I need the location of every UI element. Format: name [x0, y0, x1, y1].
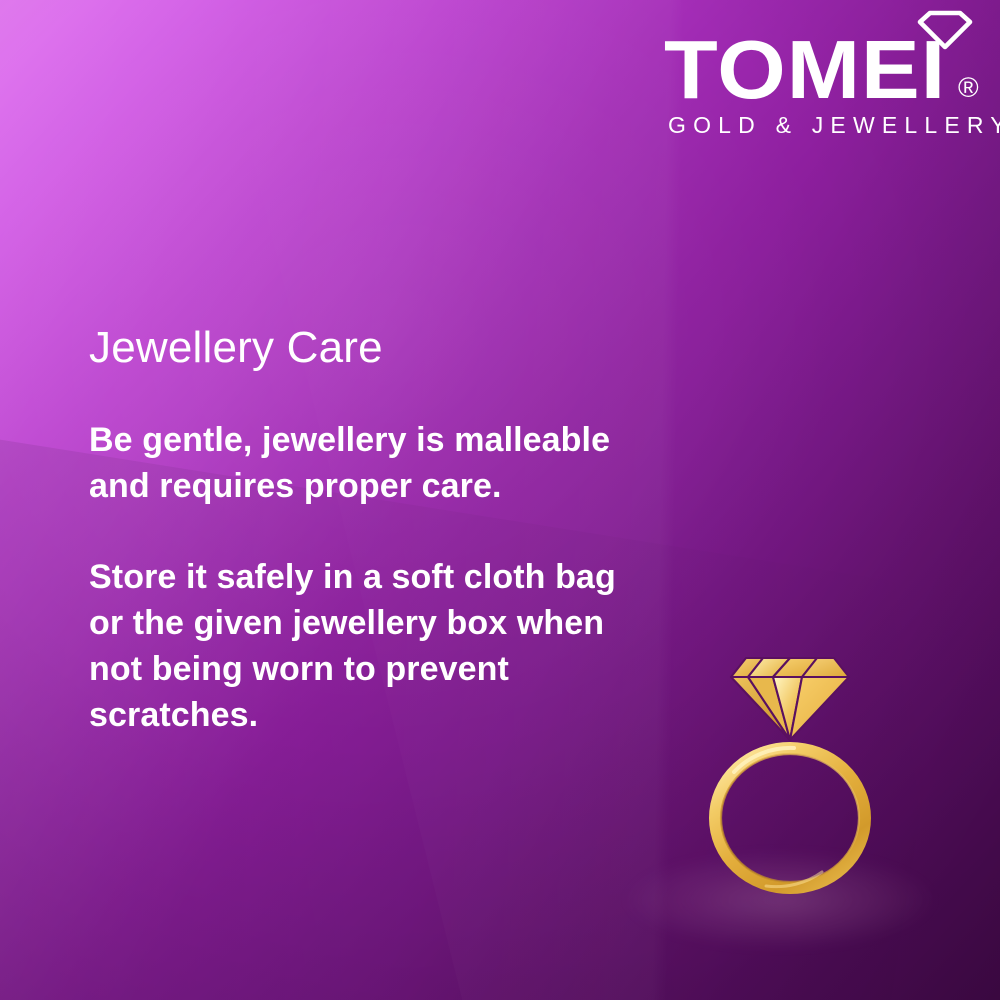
diamond-crown: [731, 658, 849, 677]
logo-tagline: GOLD & JEWELLERY: [668, 112, 1000, 138]
ring-svg: [690, 640, 890, 900]
care-paragraph-1: Be gentle, jewellery is malleable and re…: [89, 417, 634, 509]
page-title: Jewellery Care: [89, 322, 383, 374]
logo-wordmark: TOMEI: [664, 28, 946, 112]
diamond-ring-illustration: Gold ring with diamond: [690, 640, 890, 900]
care-paragraph-2: Store it safely in a soft cloth bag or t…: [89, 554, 634, 738]
diamond-pavilion: [731, 677, 849, 740]
jewellery-care-poster: TOMEI ® GOLD & JEWELLERY Jewellery Care …: [0, 0, 1000, 1000]
registered-trademark-symbol: ®: [958, 74, 979, 102]
tomei-logo: TOMEI ® GOLD & JEWELLERY: [662, 6, 992, 142]
ring-band: [715, 748, 865, 888]
